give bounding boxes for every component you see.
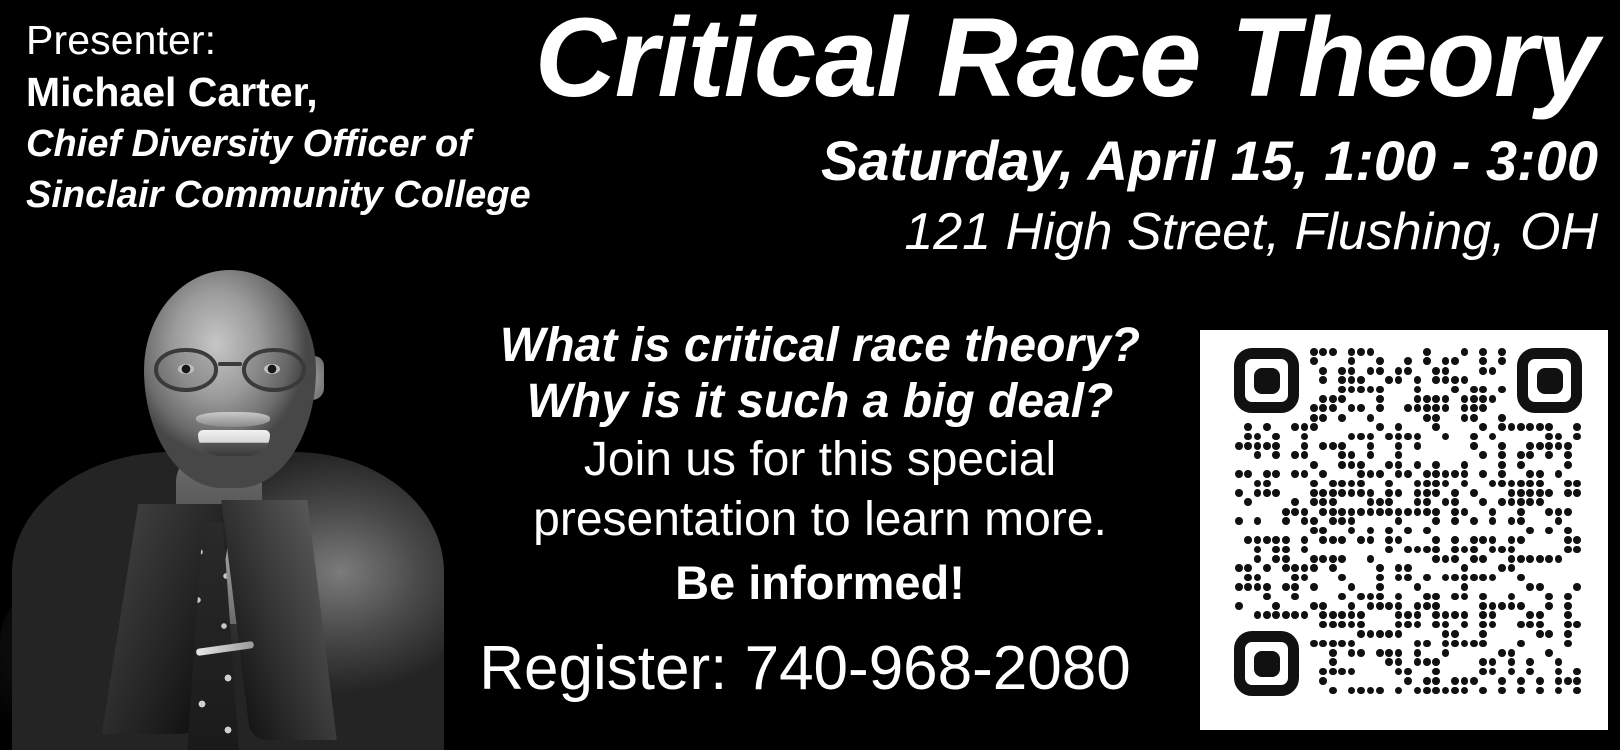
- portrait-lens-left: [154, 348, 218, 392]
- register-phone-line[interactable]: Register: 740-968-2080: [455, 635, 1155, 703]
- headline-group: Critical Race Theory Saturday, April 15,…: [535, 2, 1598, 263]
- qr-finder-bottom-left: [1234, 631, 1299, 696]
- qr-finder-top-right: [1517, 348, 1582, 413]
- flyer-canvas: Presenter: Michael Carter, Chief Diversi…: [0, 0, 1620, 750]
- portrait-glasses-bridge: [218, 362, 242, 366]
- flyer-title: Critical Race Theory: [535, 2, 1598, 114]
- presenter-block: Presenter: Michael Carter, Chief Diversi…: [26, 14, 456, 222]
- body-copy-line-2: Why is it such a big deal?: [455, 374, 1185, 430]
- body-copy-line-1: What is critical race theory?: [455, 318, 1185, 374]
- qr-code[interactable]: [1234, 348, 1582, 696]
- body-copy-block: What is critical race theory? Why is it …: [455, 318, 1185, 611]
- portrait-canvas: About Creating Community: [0, 252, 458, 750]
- glasses-icon: [150, 348, 318, 392]
- body-copy-line-4: presentation to learn more.: [455, 490, 1185, 550]
- presenter-portrait-photo: About Creating Community: [0, 252, 458, 750]
- event-date-time: Saturday, April 15, 1:00 - 3:00: [535, 128, 1598, 194]
- body-copy-line-5: Be informed!: [455, 556, 1185, 611]
- body-copy-line-3: Join us for this special: [455, 430, 1185, 490]
- presenter-title-line-1: Chief Diversity Officer of: [26, 119, 456, 170]
- presenter-label: Presenter:: [26, 14, 456, 66]
- event-address: 121 High Street, Flushing, OH: [535, 202, 1598, 263]
- qr-code-panel[interactable]: [1200, 330, 1608, 730]
- portrait-lens-right: [242, 348, 306, 392]
- portrait-mustache: [196, 412, 270, 427]
- portrait-smile: [198, 430, 270, 456]
- presenter-title-line-2: Sinclair Community College: [26, 170, 456, 221]
- presenter-name: Michael Carter,: [26, 66, 456, 118]
- qr-finder-top-left: [1234, 348, 1299, 413]
